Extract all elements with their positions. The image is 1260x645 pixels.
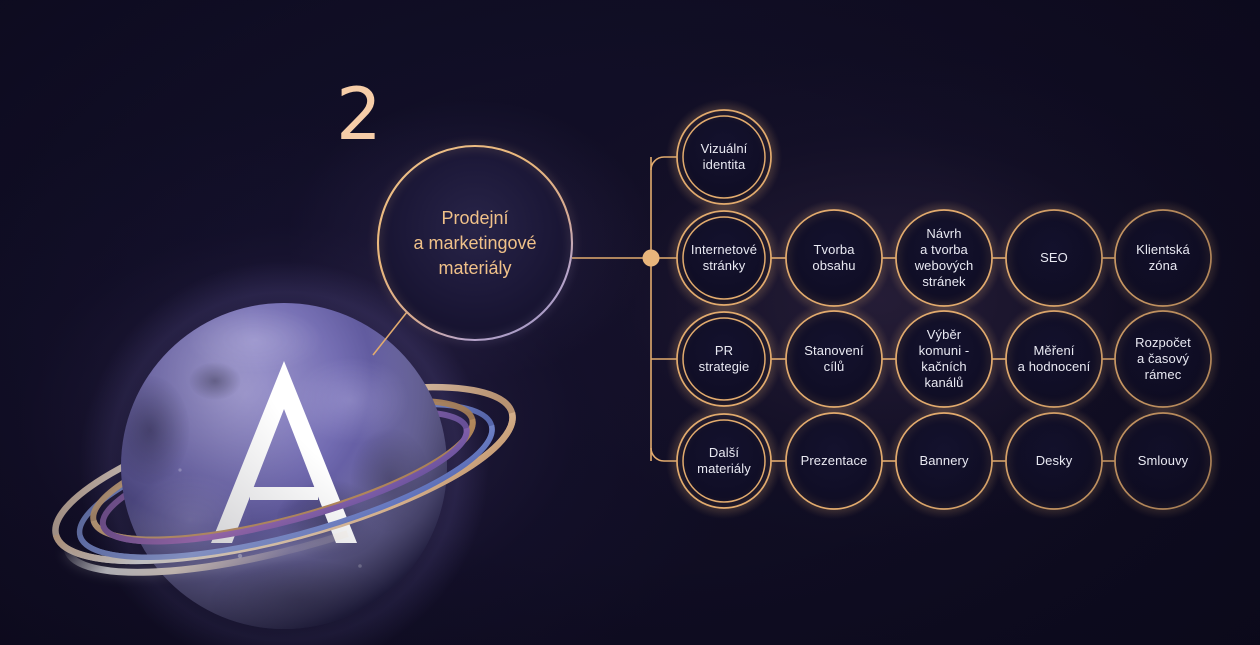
- hub-label: Prodejní a marketingové materiály: [375, 193, 575, 293]
- slide-canvas: 2 Prodejní a marketingové materiály Vizu…: [0, 0, 1260, 645]
- step-number: 2: [336, 78, 382, 150]
- vignette-overlay: [0, 0, 1260, 645]
